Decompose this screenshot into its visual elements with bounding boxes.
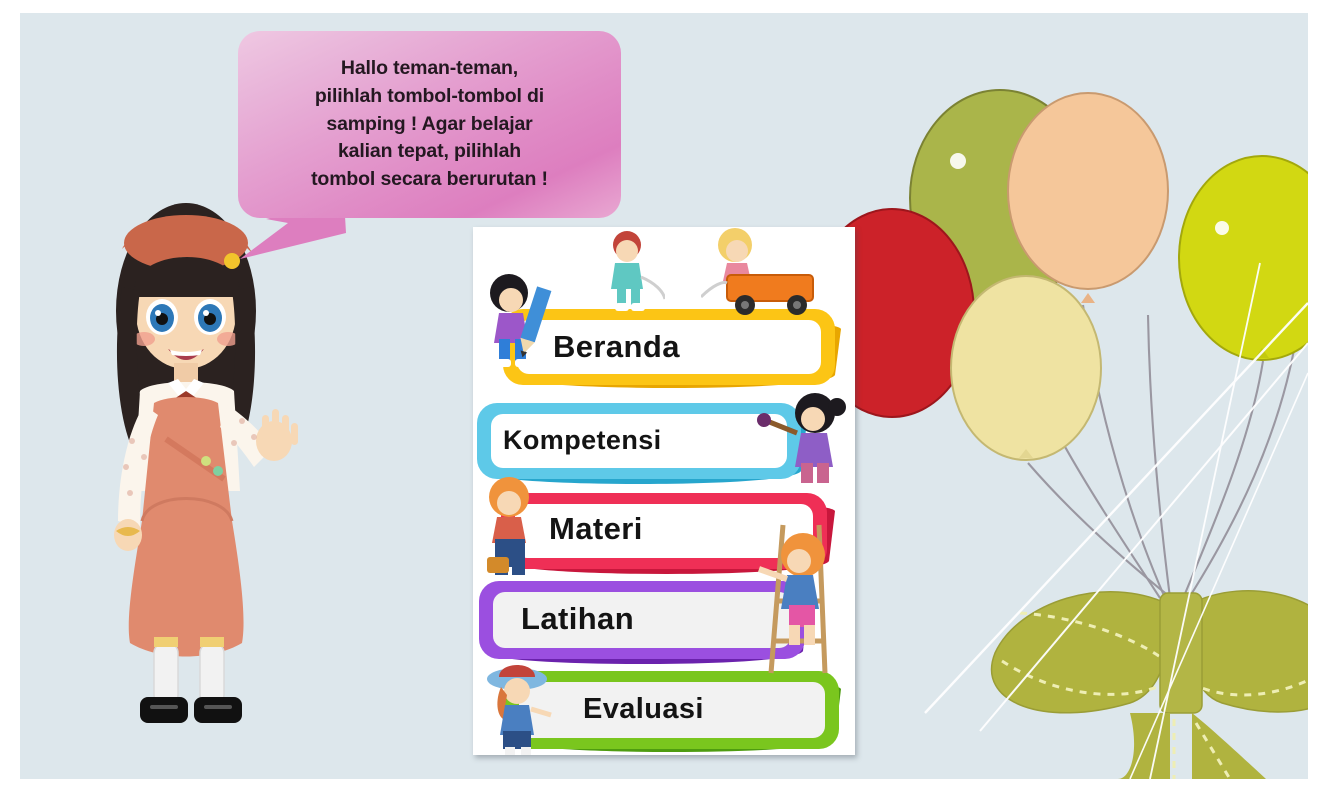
shoes — [140, 697, 242, 723]
menu-label-materi: Materi — [549, 511, 643, 547]
speech-bubble: Hallo teman-teman, pilihlah tombol-tombo… — [238, 31, 621, 218]
balloon-cream — [951, 276, 1101, 460]
girl-with-bag-icon — [473, 473, 549, 585]
slide-canvas: Hallo teman-teman, pilihlah tombol-tombo… — [20, 13, 1308, 779]
balloon-yellow — [1179, 156, 1308, 360]
girl-on-ladder-icon — [741, 521, 847, 679]
speech-bubble-text: Hallo teman-teman, pilihlah tombol-tombo… — [297, 55, 562, 193]
balloon-decoration — [830, 13, 1308, 779]
boy-with-pencil-icon — [477, 273, 553, 391]
menu-label-latihan: Latihan — [521, 601, 634, 637]
ribbon-bow — [992, 591, 1308, 779]
boy-running-icon — [593, 229, 665, 315]
menu-card: Beranda Kompetensi — [473, 227, 855, 755]
girl-on-wagon-icon — [701, 227, 819, 319]
girl-with-brush-icon — [751, 389, 849, 489]
menu-label-kompetensi: Kompetensi — [503, 425, 662, 456]
menu-label-beranda: Beranda — [553, 329, 680, 365]
menu-label-evaluasi: Evaluasi — [583, 693, 704, 726]
girl-with-hat-icon — [477, 653, 557, 755]
girl-avatar — [82, 191, 300, 731]
waving-hand — [256, 409, 298, 461]
